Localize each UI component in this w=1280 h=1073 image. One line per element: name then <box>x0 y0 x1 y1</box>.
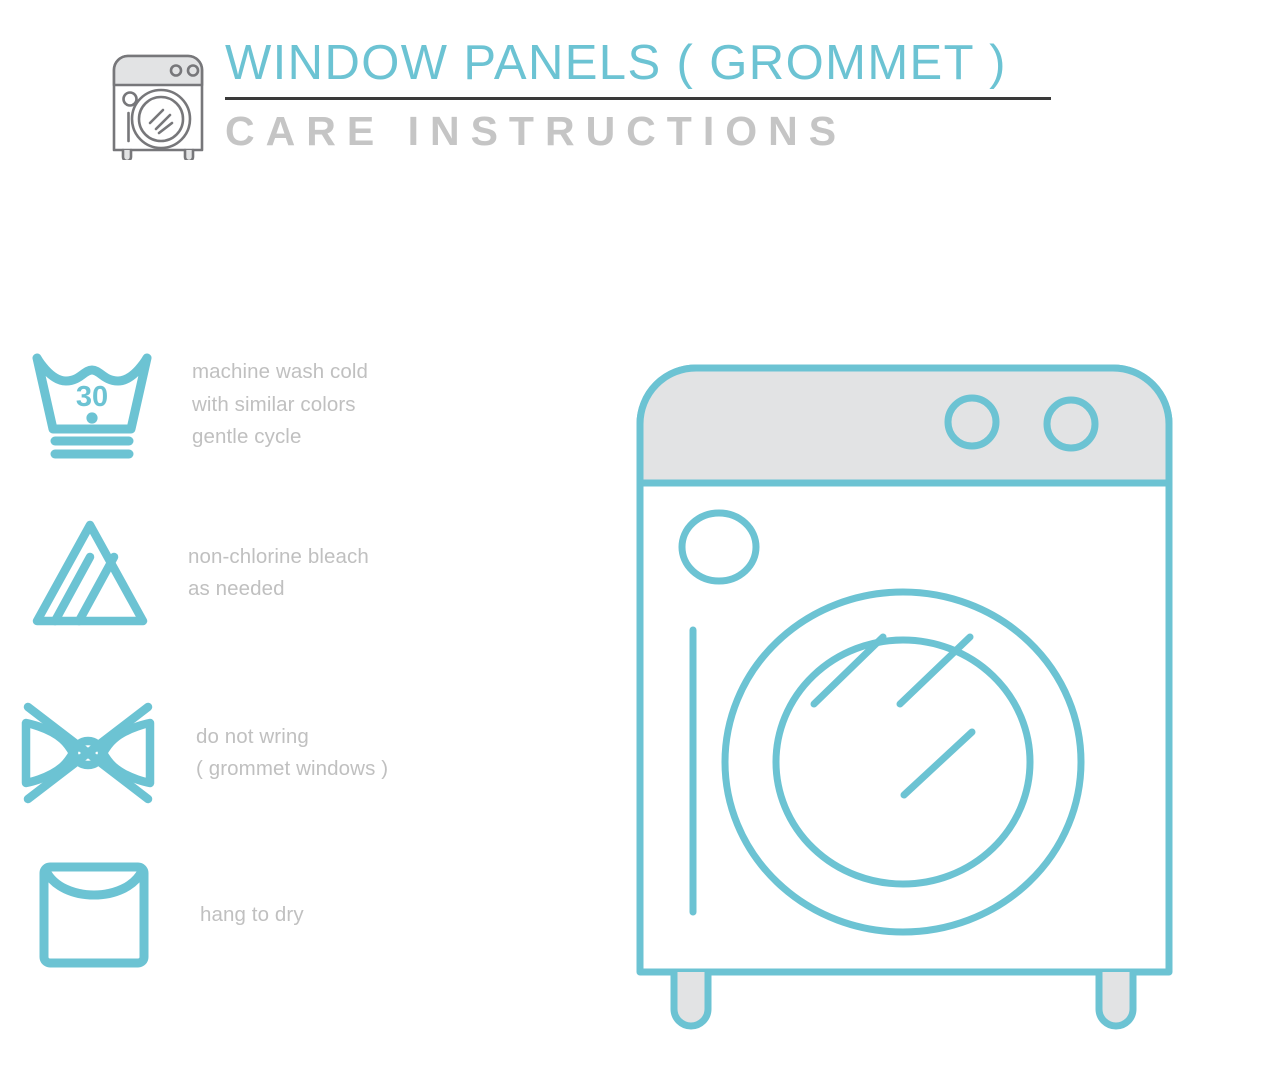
washing-machine-icon <box>106 28 210 160</box>
machine-foot <box>1099 972 1133 1026</box>
care-row-label: do not wring ( grommet windows ) <box>196 721 388 786</box>
hang-to-dry-icon <box>0 859 174 971</box>
title-divider <box>225 97 1051 100</box>
wash-temperature-value: 30 <box>76 381 108 413</box>
non-chlorine-bleach-triangle-icon <box>0 517 170 629</box>
page-subtitle: CARE INSTRUCTIONS <box>225 102 1125 160</box>
care-row: non-chlorine bleach as needed <box>0 508 600 638</box>
care-row-label: machine wash cold with similar colors ge… <box>192 356 368 454</box>
care-row: do not wring ( grommet windows ) <box>0 688 600 818</box>
care-row-label: hang to dry <box>200 899 304 932</box>
title-block: WINDOW PANELS ( GROMMET ) CARE INSTRUCTI… <box>225 32 1125 160</box>
washing-machine-illustration <box>632 352 1177 1042</box>
care-row: hang to dry <box>0 850 600 980</box>
machine-foot <box>674 972 708 1026</box>
care-row-label: non-chlorine bleach as needed <box>188 541 369 606</box>
page-title: WINDOW PANELS ( GROMMET ) <box>225 32 1125 94</box>
do-not-wring-icon <box>0 697 168 809</box>
care-row: 30 machine wash cold with similar colors… <box>0 340 600 470</box>
page-header: WINDOW PANELS ( GROMMET ) CARE INSTRUCTI… <box>0 0 1280 180</box>
machine-wash-cold-30-gentle-icon: 30 <box>0 349 172 461</box>
